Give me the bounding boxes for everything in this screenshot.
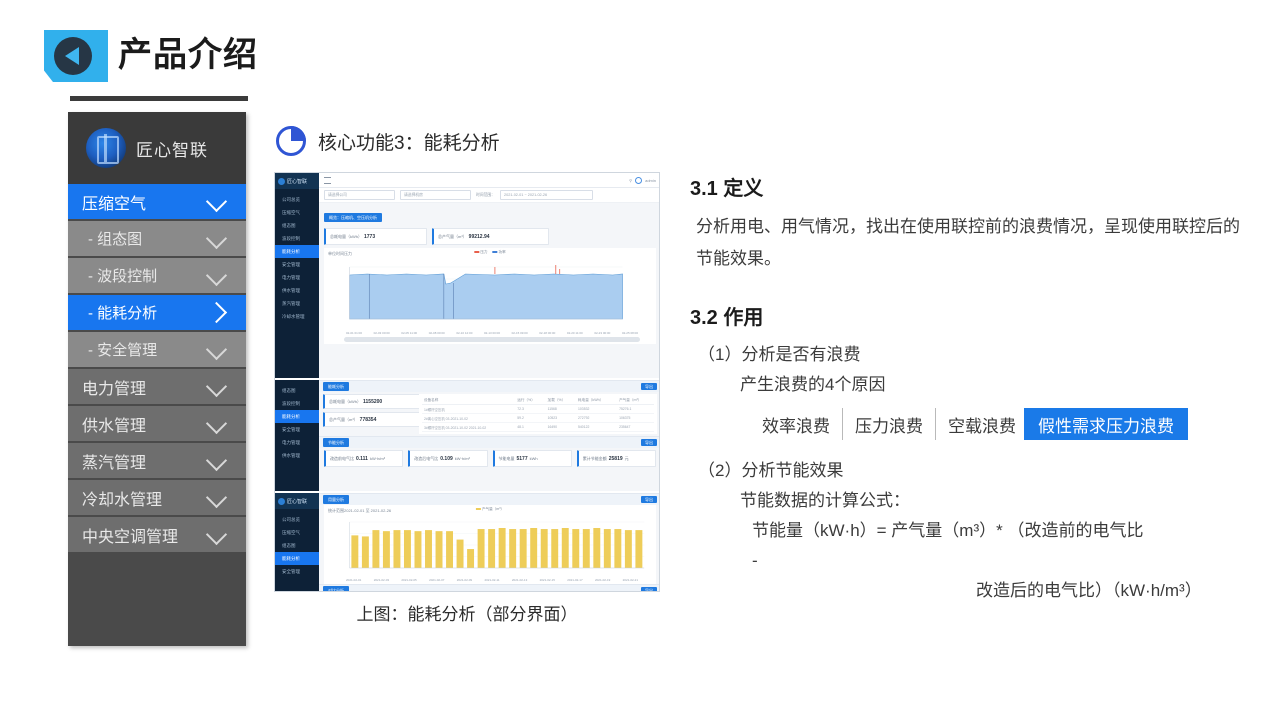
chart-legend: 压力 功率 (474, 250, 505, 255)
formula-dash: - (752, 546, 1250, 576)
app-nav-item[interactable]: 安全管理 (275, 565, 319, 578)
sidebar-item-central-ac[interactable]: 中央空调管理 (68, 517, 246, 552)
sidebar-item-label: - 组态图 (88, 228, 142, 249)
app-nav-item[interactable]: 压缩空气 (275, 206, 319, 219)
app-nav-item-active[interactable]: 能耗分析 (275, 552, 319, 565)
app-nav-item-active[interactable]: 能耗分析 (275, 245, 319, 258)
waste-reason-row: 效率浪费 压力浪费 空载浪费 假性需求压力浪费 (750, 408, 1250, 440)
card-value: 25819 (609, 456, 623, 462)
cell: 2#离心空压机 03-2021-10-02 (422, 414, 515, 423)
chevron-down-icon (206, 450, 227, 471)
app-content: 用量分析 导出 统计范围2021-02-01 至 2021-02-26 产气量（… (319, 493, 660, 592)
export-button[interactable]: 导出 (641, 496, 657, 503)
summary-card: 总耗电量（kWh） 1773 (324, 228, 427, 245)
x-axis-labels: 02-01 01:00 02-03 00:00 02-05 11:00 02-0… (328, 331, 652, 335)
app-nav-item[interactable]: 组态图 (275, 539, 319, 552)
summary-card: 总产气量（m³） 778354 (323, 412, 422, 427)
bar-chart-canvas (328, 516, 652, 578)
summary-card-row: 总耗电量（kWh） 1773 总产气量（m³） 99212.94 (319, 226, 660, 248)
chevron-down-icon (206, 413, 227, 434)
sidebar-item-band-control[interactable]: - 波段控制 (68, 258, 246, 293)
app-nav-item-active[interactable]: 能耗分析 (275, 410, 319, 423)
chevron-right-icon (206, 302, 227, 323)
sidebar-item-safety-management[interactable]: - 安全管理 (68, 332, 246, 367)
stat-card: 累计节能金额 25819 元 (577, 450, 656, 467)
export-button[interactable]: 导出 (641, 439, 657, 446)
x-tick: 2021-02-13 (512, 578, 527, 582)
x-tick: 2021-02-19 (595, 578, 610, 582)
formula-line-2: 改造后的电气比）（kW·h/m³） (752, 576, 1250, 606)
column-header: 产气量（m³） (617, 396, 654, 405)
waste-reason-pressure[interactable]: 压力浪费 (843, 408, 936, 440)
bullet-2: （2）分析节能效果 (698, 456, 1250, 486)
app-nav-list: 公司总览 压缩空气 组态图 能耗分析 安全管理 (275, 509, 319, 578)
screenshot-panel-middle: 组态图 波段控制 能耗分析 安全管理 电力管理 供水管理 能耗分析 导出 总耗电… (275, 378, 660, 493)
app-nav-item[interactable]: 公司总览 (275, 513, 319, 526)
x-tick: 02-05 11:00 (401, 331, 417, 335)
x-tick: 2021-02-15 (540, 578, 555, 582)
cell: 106375 (617, 414, 654, 423)
x-axis-labels: 2021-02-01 2021-02-03 2021-02-05 2021-02… (328, 578, 652, 582)
brand-row: 匠心智联 (68, 112, 246, 184)
bullet-1: （1）分析是否有浪费 (698, 340, 1250, 370)
x-tick: 02-01 01:00 (346, 331, 362, 335)
card-label: 改造后电气比 (414, 456, 438, 462)
card-value: 0.109 (440, 456, 453, 462)
app-logo-icon (278, 498, 285, 505)
x-tick: 02-20 11:00 (567, 331, 583, 335)
x-tick: 02-25 08:00 (622, 331, 638, 335)
table: 设备名称 运行（%） 加载（%） 耗电量（kWh） 产气量（m³） 1#螺杆空压… (422, 396, 654, 432)
section-bar-compare: 对比分析 导出 (319, 584, 660, 592)
card-unit: kW·h/m³ (370, 456, 385, 461)
x-tick: 2021-02-03 (374, 578, 389, 582)
section-tag-usage[interactable]: 用量分析 (323, 495, 349, 504)
column-header: 加载（%） (546, 396, 576, 405)
app-nav-item[interactable]: 供水管理 (275, 449, 319, 462)
app-nav: 组态图 波段控制 能耗分析 安全管理 电力管理 供水管理 (275, 380, 319, 493)
sidebar-item-label: - 波段控制 (88, 265, 157, 286)
waste-reason-idle[interactable]: 空载浪费 (936, 408, 1024, 440)
app-nav-item[interactable]: 公司总览 (275, 193, 319, 206)
export-button[interactable]: 导出 (641, 587, 657, 592)
app-nav-item[interactable]: 安全管理 (275, 423, 319, 436)
date-range-label: 时间范围： (476, 193, 495, 198)
sidebar-item-power-management[interactable]: 电力管理 (68, 369, 246, 404)
section-tag-overview[interactable]: 概览：压缩机、空压机分析 (324, 213, 382, 222)
screenshot-panel-bars: 匠心智联 公司总览 压缩空气 组态图 能耗分析 安全管理 用量分析 导出 统计范… (275, 491, 660, 592)
table-header-row: 设备名称 运行（%） 加载（%） 耗电量（kWh） 产气量（m³） (422, 396, 654, 405)
section-tag-compare[interactable]: 对比分析 (323, 586, 349, 592)
app-brand-label: 匠心智联 (287, 498, 307, 505)
x-tick: 2021-02-05 (401, 578, 416, 582)
sidebar-item-label: 蒸汽管理 (82, 449, 146, 473)
sidebar-item-label: 冷却水管理 (82, 486, 162, 510)
area-chart-svg (328, 259, 652, 331)
sidebar-item-label: 压缩空气 (82, 190, 146, 214)
card-unit: 元 (625, 456, 629, 462)
room-select[interactable]: 请选择机房 (400, 190, 471, 200)
screenshot-panel-top: 匠心智联 公司总览 压缩空气 组态图 波段控制 能耗分析 安全管理 电力管理 供… (275, 173, 660, 378)
app-nav-item[interactable]: 波段控制 (275, 232, 319, 245)
cell: 11568 (546, 405, 576, 414)
card-label: 总产气量（m³） (329, 417, 358, 423)
x-tick: 2021-02-21 (623, 578, 638, 582)
sidebar-item-steam-management[interactable]: 蒸汽管理 (68, 443, 246, 478)
x-tick: 2021-02-07 (429, 578, 444, 582)
app-nav-item[interactable]: 安全管理 (275, 258, 319, 271)
section-tag-energy[interactable]: 能耗分析 (323, 382, 349, 391)
topbar-right: ⚲ admin (629, 177, 656, 184)
waste-reason-efficiency[interactable]: 效率浪费 (750, 408, 843, 440)
chart-scrollbar[interactable] (344, 337, 640, 342)
bar-chart-svg (328, 516, 652, 578)
x-tick: 2021-02-01 (346, 578, 361, 582)
column-header: 耗电量（kWh） (576, 396, 617, 405)
legend-entry: 压力 (474, 250, 487, 255)
x-tick: 02-08 00:00 (429, 331, 445, 335)
sidebar-item-label: - 能耗分析 (88, 302, 157, 323)
app-content: ⚲ admin 请选择公司 请选择机房 时间范围： 2021-02-01 ~ 2… (319, 173, 660, 378)
bullet-2-sub: 节能数据的计算公式： (740, 486, 1250, 516)
app-content: 能耗分析 导出 总耗电量（kWh） 1155200 总产气量（m³） 77835… (319, 380, 660, 493)
search-icon[interactable]: ⚲ (629, 178, 632, 183)
app-nav-list: 公司总览 压缩空气 组态图 波段控制 能耗分析 安全管理 电力管理 供水管理 蒸… (275, 189, 319, 323)
pie-chart-icon (276, 126, 306, 156)
card-unit: kWh (530, 456, 538, 461)
x-tick: 2021-02-09 (457, 578, 472, 582)
table-row: 1#螺杆空压机 72.3 11568 103532 75276.1 (422, 405, 654, 414)
app-logo-icon (278, 178, 285, 185)
chart-legend: 产气量（m³） (476, 507, 504, 512)
card-label: 总耗电量（kWh） (330, 234, 362, 240)
feature-heading: 核心功能3：能耗分析 (276, 126, 500, 156)
sidebar-item-energy-analysis[interactable]: - 能耗分析 (68, 295, 246, 330)
chevron-down-icon (206, 191, 227, 212)
section-31-body: 分析用电、用气情况，找出在使用联控前的浪费情况，呈现使用联控后的节能效果。 (696, 211, 1250, 275)
sidebar-item-label: - 安全管理 (88, 339, 157, 360)
section-tag-saving[interactable]: 节能分析 (323, 438, 349, 447)
cell: 272792 (576, 414, 617, 423)
x-tick: 02-23 00:00 (594, 331, 610, 335)
card-label: 累计节能金额 (583, 456, 607, 462)
export-button[interactable]: 导出 (641, 383, 657, 390)
app-nav: 匠心智联 公司总览 压缩空气 组态图 波段控制 能耗分析 安全管理 电力管理 供… (275, 173, 319, 378)
cell: 540122 (576, 423, 617, 432)
bullet-1-sub: 产生浪费的4个原因 (740, 370, 1250, 400)
filter-bar: 请选择公司 请选择机房 时间范围： 2021-02-01 ~ 2021-02-2… (319, 188, 660, 203)
slide-header: 产品介绍 (0, 0, 1280, 100)
section-bar-usage: 用量分析 导出 (319, 493, 660, 505)
card-value: 99212.94 (469, 234, 490, 240)
chevron-down-icon (206, 228, 227, 249)
sidebar-item-cooling-water[interactable]: 冷却水管理 (68, 480, 246, 515)
overview-tag-row: 概览：压缩机、空压机分析 (319, 203, 660, 226)
app-nav-item[interactable]: 波段控制 (275, 397, 319, 410)
card-value: 1155200 (363, 399, 382, 405)
avatar[interactable] (635, 177, 642, 184)
chevron-down-icon (206, 376, 227, 397)
app-nav-item[interactable]: 电力管理 (275, 271, 319, 284)
summary-card: 总耗电量（kWh） 1155200 (323, 394, 422, 409)
app-nav-item[interactable]: 供水管理 (275, 284, 319, 297)
section-bar-energy: 能耗分析 导出 (319, 380, 660, 392)
cell: 10523 (546, 414, 576, 423)
app-nav-item[interactable]: 组态图 (275, 384, 319, 397)
sidebar-item-compressed-air[interactable]: 压缩空气 (68, 184, 246, 219)
x-tick: 02-13 00:00 (484, 331, 500, 335)
page-title: 产品介绍 (118, 30, 258, 80)
menu-toggle-icon[interactable] (324, 177, 331, 184)
section-32-title: 3.2 作用 (690, 301, 1250, 330)
pressure-power-chart: 单位时间压力 压力 功率 (324, 248, 656, 344)
app-nav-item[interactable]: 蒸汽管理 (275, 297, 319, 310)
app-topbar: ⚲ admin (319, 173, 660, 188)
cell: 59.2 (515, 414, 545, 423)
app-nav-item[interactable]: 组态图 (275, 219, 319, 232)
waste-reason-false-demand[interactable]: 假性需求压力浪费 (1024, 408, 1188, 440)
summary-card: 总产气量（m³） 99212.94 (432, 228, 549, 245)
chevron-down-icon (206, 265, 227, 286)
cell: 72.3 (515, 405, 545, 414)
chevron-down-icon (206, 524, 227, 545)
date-range-input[interactable]: 2021-02-01 ~ 2021-02-26 (500, 190, 593, 200)
section-31-title: 3.1 定义 (690, 172, 1250, 201)
section-bar-saving: 节能分析 导出 (319, 436, 660, 448)
card-label: 总耗电量（kWh） (329, 399, 361, 405)
product-menu-panel: 匠心智联 压缩空气 - 组态图 - 波段控制 - 能耗分析 - 安全管理 电力管… (68, 112, 246, 646)
stat-card: 改造前电气比 0.111 kW·h/m³ (324, 450, 403, 467)
app-nav: 匠心智联 公司总览 压缩空气 组态图 能耗分析 安全管理 (275, 493, 319, 592)
header-badge (44, 30, 108, 82)
brand-logo-icon (86, 128, 126, 168)
area-series (350, 274, 623, 319)
screenshot-caption: 上图：能耗分析（部分界面） (274, 600, 660, 625)
cell: 3#螺杆空压机 03-2021-10-02 2021-10-02 (422, 423, 515, 432)
chevron-down-icon (206, 339, 227, 360)
cell: 235647 (617, 423, 654, 432)
app-screenshot: 匠心智联 公司总览 压缩空气 组态图 波段控制 能耗分析 安全管理 电力管理 供… (274, 172, 660, 592)
sidebar-item-label: 电力管理 (82, 375, 146, 399)
cell: 1#螺杆空压机 (422, 405, 515, 414)
table-row: 2#离心空压机 03-2021-10-02 59.2 10523 272792 … (422, 414, 654, 423)
area-chart-canvas (328, 259, 652, 331)
card-value: 5177 (517, 456, 528, 462)
table-row: 3#螺杆空压机 03-2021-10-02 2021-10-02 48.1 16… (422, 423, 654, 432)
brand-name: 匠心智联 (136, 136, 208, 161)
app-nav-item[interactable]: 压缩空气 (275, 526, 319, 539)
stat-card: 节能电量 5177 kWh (493, 450, 572, 467)
cell: 16490 (546, 423, 576, 432)
company-select[interactable]: 请选择公司 (324, 190, 395, 200)
x-tick: 02-15 09:00 (512, 331, 528, 335)
sidebar-item-water-supply[interactable]: 供水管理 (68, 406, 246, 441)
app-nav-brand: 匠心智联 (275, 493, 319, 509)
saving-stat-row: 改造前电气比 0.111 kW·h/m³ 改造后电气比 0.109 kW·h/m… (319, 448, 660, 470)
user-label: admin (645, 178, 656, 183)
x-tick: 02-10 12:00 (456, 331, 472, 335)
legend-entry: 产气量（m³） (476, 507, 504, 512)
legend-entry: 功率 (493, 250, 506, 255)
app-nav-list: 组态图 波段控制 能耗分析 安全管理 电力管理 供水管理 (275, 380, 319, 462)
sidebar-item-label: 供水管理 (82, 412, 146, 436)
cell: 48.1 (515, 423, 545, 432)
app-nav-item[interactable]: 电力管理 (275, 436, 319, 449)
title-underline (70, 96, 248, 101)
app-nav-item[interactable]: 冷却水管理 (275, 310, 319, 323)
card-value: 1773 (364, 234, 375, 240)
x-tick: 2021-02-17 (567, 578, 582, 582)
cell: 75276.1 (617, 405, 654, 414)
chevron-down-icon (206, 487, 227, 508)
gas-volume-bar-chart: 统计范围2021-02-01 至 2021-02-26 产气量（m³） 2021… (324, 505, 656, 584)
x-tick: 02-18 00:00 (539, 331, 555, 335)
card-unit: kW·h/m³ (455, 456, 470, 461)
card-value: 0.111 (356, 456, 368, 462)
app-brand-label: 匠心智联 (287, 178, 307, 185)
content-column: 3.1 定义 分析用电、用气情况，找出在使用联控前的浪费情况，呈现使用联控后的节… (690, 172, 1250, 606)
card-label: 节能电量 (499, 456, 515, 462)
column-header: 运行（%） (515, 396, 545, 405)
card-value: 778354 (360, 417, 377, 423)
column-header: 设备名称 (422, 396, 515, 405)
triangle-left-glyph (65, 47, 79, 65)
cell: 103532 (576, 405, 617, 414)
sidebar-item-label: 中央空调管理 (82, 523, 178, 547)
device-table: 设备名称 运行（%） 加载（%） 耗电量（kWh） 产气量（m³） 1#螺杆空压… (419, 394, 657, 434)
app-nav-brand: 匠心智联 (275, 173, 319, 189)
feature-title: 核心功能3：能耗分析 (318, 128, 500, 155)
x-tick: 02-03 00:00 (374, 331, 390, 335)
sidebar-item-configuration-diagram[interactable]: - 组态图 (68, 221, 246, 256)
play-back-triangle-icon (54, 37, 92, 75)
stat-card: 改造后电气比 0.109 kW·h/m³ (408, 450, 487, 467)
x-tick: 2021-02-11 (484, 578, 499, 582)
card-label: 改造前电气比 (330, 456, 354, 462)
card-label: 总产气量（m³） (438, 234, 467, 240)
formula-line-1: 节能量（kW·h）= 产气量（m³）* （改造前的电气比 (752, 516, 1250, 546)
